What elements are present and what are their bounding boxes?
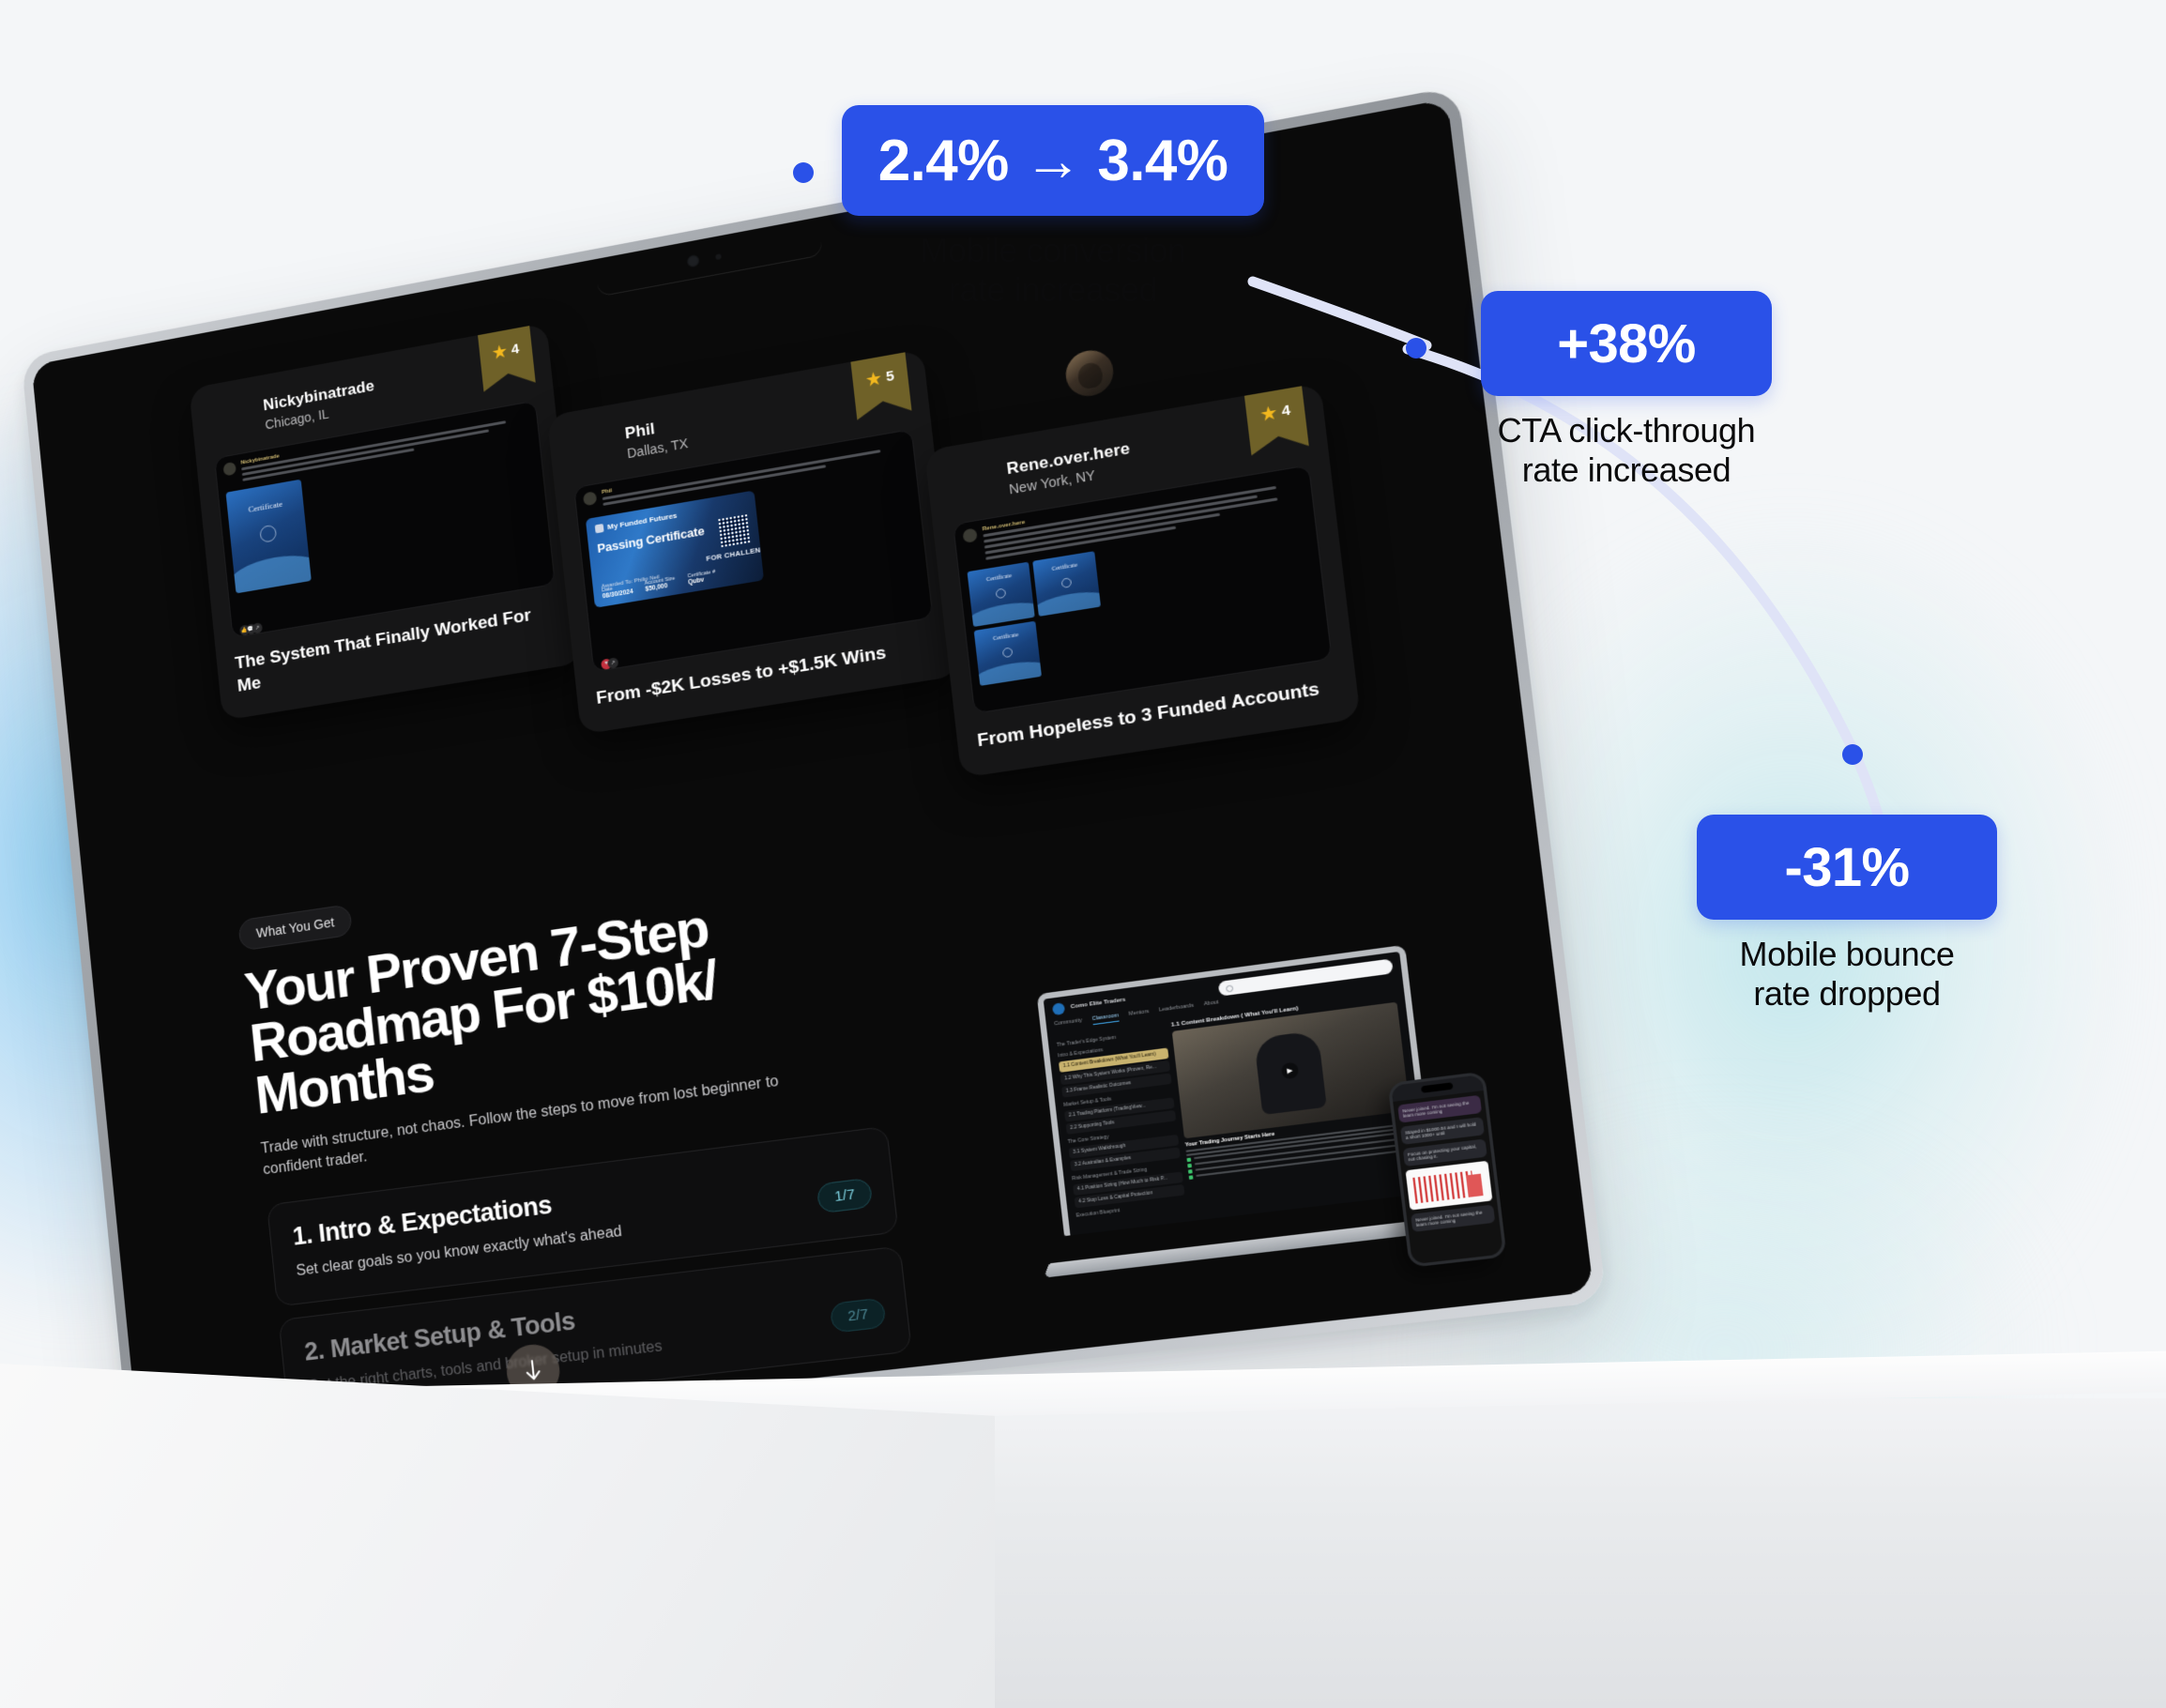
- testimonial-card[interactable]: Phil Dallas, TX ★ 5: [547, 349, 960, 735]
- qr-code-icon: [718, 514, 750, 547]
- avatar: [1063, 346, 1116, 399]
- step-counter: 2/7: [830, 1297, 887, 1333]
- mockup-nav-about[interactable]: About: [1203, 999, 1219, 1010]
- annotation-mobile-conversion: 2.4% → 3.4% Mobile conversion rate incre…: [842, 105, 1264, 311]
- rating-ribbon: ★ 5: [850, 352, 911, 419]
- star-icon: ★: [865, 370, 882, 389]
- mockup-laptop-screen: Como Elite Traders Community Classroom M…: [1037, 945, 1435, 1236]
- brand-logo-icon: [1052, 1002, 1065, 1015]
- star-icon: ★: [1260, 404, 1278, 423]
- mockup-sidebar: The Trader's Edge System Intro & Expecta…: [1056, 1024, 1186, 1222]
- brand-icon: [595, 524, 604, 533]
- annotation-label: Mobile bounce rate dropped: [1697, 935, 1997, 1014]
- laptop-screen: Nickybinatrade Chicago, IL ★ 4: [32, 99, 1594, 1453]
- post-reactions: ♥ ↗: [602, 663, 608, 664]
- phone-chart: [1406, 1161, 1493, 1211]
- desk-front-panel: [0, 1361, 995, 1708]
- testimonial-card[interactable]: Rene.over.here New York, NY ★ 4: [924, 383, 1361, 778]
- metric-badge: -31%: [1697, 815, 1997, 920]
- arrow-down-icon: [522, 1358, 545, 1385]
- certificate-word: Certificate: [227, 496, 303, 518]
- annotation-label: Mobile conversion rate increased: [842, 231, 1264, 311]
- roadmap-steps: 1. Intro & Expectations Set clear goals …: [267, 1126, 912, 1422]
- laptop-lid: Nickybinatrade Chicago, IL ★ 4: [21, 86, 1607, 1464]
- annotation-label: CTA click-through rate increased: [1481, 411, 1772, 491]
- testimonial-screenshot: Rene.over.here Certificate Certificate C…: [953, 465, 1333, 714]
- rating-ribbon: ★ 4: [478, 326, 536, 392]
- annotation-dot: [793, 162, 814, 183]
- mockup-main: 1.1 Content Breakdown ( What You'll Lear…: [1171, 993, 1419, 1208]
- certificate-gallery: Certificate Certificate Certificate: [968, 551, 1110, 686]
- annotation-mobile-bounce: -31% Mobile bounce rate dropped: [1697, 815, 1997, 1014]
- testimonial-card[interactable]: Nickybinatrade Chicago, IL ★ 4: [189, 323, 583, 722]
- mockup-brand: Como Elite Traders: [1070, 997, 1125, 1010]
- annotation-cta-ctr: +38% CTA click-through rate increased: [1481, 291, 1772, 491]
- rating-value: 4: [511, 341, 520, 358]
- certificate-thumb: Certificate: [226, 480, 312, 594]
- star-icon: ★: [492, 343, 508, 361]
- metric-badge: +38%: [1481, 291, 1772, 396]
- section-pill: What You Get: [237, 904, 353, 952]
- annotation-dot: [1406, 338, 1426, 358]
- testimonial-screenshot: Phil My Funded Futures Passing Certifica…: [573, 429, 933, 672]
- rating-value: 5: [885, 368, 895, 386]
- post-reactions: 👍 💬 ↗: [240, 629, 252, 631]
- annotation-dot: [1842, 744, 1863, 765]
- device-mockup: Como Elite Traders Community Classroom M…: [1018, 938, 1499, 1316]
- seal-icon: [259, 525, 277, 543]
- metric-badge: 2.4% → 3.4%: [842, 105, 1264, 216]
- rating-ribbon: ★ 4: [1244, 386, 1309, 455]
- rating-value: 4: [1281, 402, 1291, 419]
- testimonial-screenshot: Nickybinatrade Certificate 👍 💬: [214, 401, 556, 639]
- mockup-nav-mentors[interactable]: Mentors: [1128, 1009, 1150, 1020]
- mockup-phone: Never joined. I'm not seeing the learn m…: [1387, 1071, 1506, 1267]
- website-page: Nickybinatrade Chicago, IL ★ 4: [32, 99, 1594, 1453]
